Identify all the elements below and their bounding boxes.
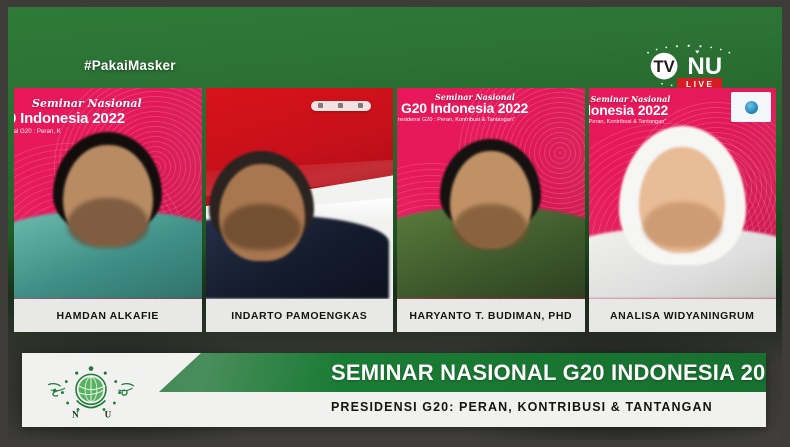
participant-name: HAMDAN ALKAFIE	[14, 299, 202, 332]
video-feed: DEFEN Defence Industry Indo INDO CON	[206, 88, 394, 299]
lower-third-text-panel: SEMINAR NASIONAL G20 INDONESIA 2022 PRES…	[159, 353, 766, 427]
video-feed: Seminar Nasional G20 Indonesia 2022 resi…	[397, 88, 585, 299]
svg-text:TV: TV	[654, 57, 675, 76]
participant-video-person	[14, 88, 202, 299]
participant-tile[interactable]: Seminar Nasional G20 Indonesia 2022 resi…	[397, 88, 585, 332]
broadcast-screen: #PakaiMasker TV NU LIVE	[8, 7, 782, 440]
broadcast-stage: #PakaiMasker TV NU LIVE	[0, 0, 790, 447]
participant-video-person	[589, 88, 777, 299]
participant-name: INDARTO PAMOENGKAS	[206, 299, 394, 332]
nu-letter-left: N	[72, 409, 79, 419]
participant-tile[interactable]: DEFEN Defence Industry Indo INDO CON	[206, 88, 394, 332]
participant-name: ANALISA WIDYANINGRUM	[589, 299, 777, 332]
seminar-subtitle: PRESIDENSI G20: PERAN, KONTRIBUSI & TANT…	[331, 400, 713, 414]
participant-tile[interactable]: Seminar Nasional donesia 2022 : Peran, K…	[589, 88, 777, 332]
participant-grid: Seminar Nasional 0 Indonesia 2022 nal G2…	[14, 88, 776, 332]
participant-video-person	[206, 88, 394, 299]
nahdlatul-ulama-logo-icon: ﻉ ﻥ N U	[22, 353, 159, 427]
svg-text:NU: NU	[687, 53, 722, 80]
participant-tile[interactable]: Seminar Nasional 0 Indonesia 2022 nal G2…	[14, 88, 202, 332]
hashtag-overlay: #PakaiMasker	[84, 58, 176, 73]
video-feed: Seminar Nasional donesia 2022 : Peran, K…	[589, 88, 777, 299]
video-feed: Seminar Nasional 0 Indonesia 2022 nal G2…	[14, 88, 202, 299]
svg-text:ﻉ: ﻉ	[52, 386, 59, 397]
nu-letter-right: U	[104, 409, 111, 419]
lower-third-banner: ﻉ ﻥ N U SEMINAR NASIONAL G20 INDONESIA 2…	[22, 353, 766, 427]
svg-text:ﻥ: ﻥ	[120, 386, 127, 397]
participant-video-person	[397, 88, 585, 299]
participant-name: HARYANTO T. BUDIMAN, PHD	[397, 299, 585, 332]
seminar-title: SEMINAR NASIONAL G20 INDONESIA 2022	[331, 360, 766, 386]
